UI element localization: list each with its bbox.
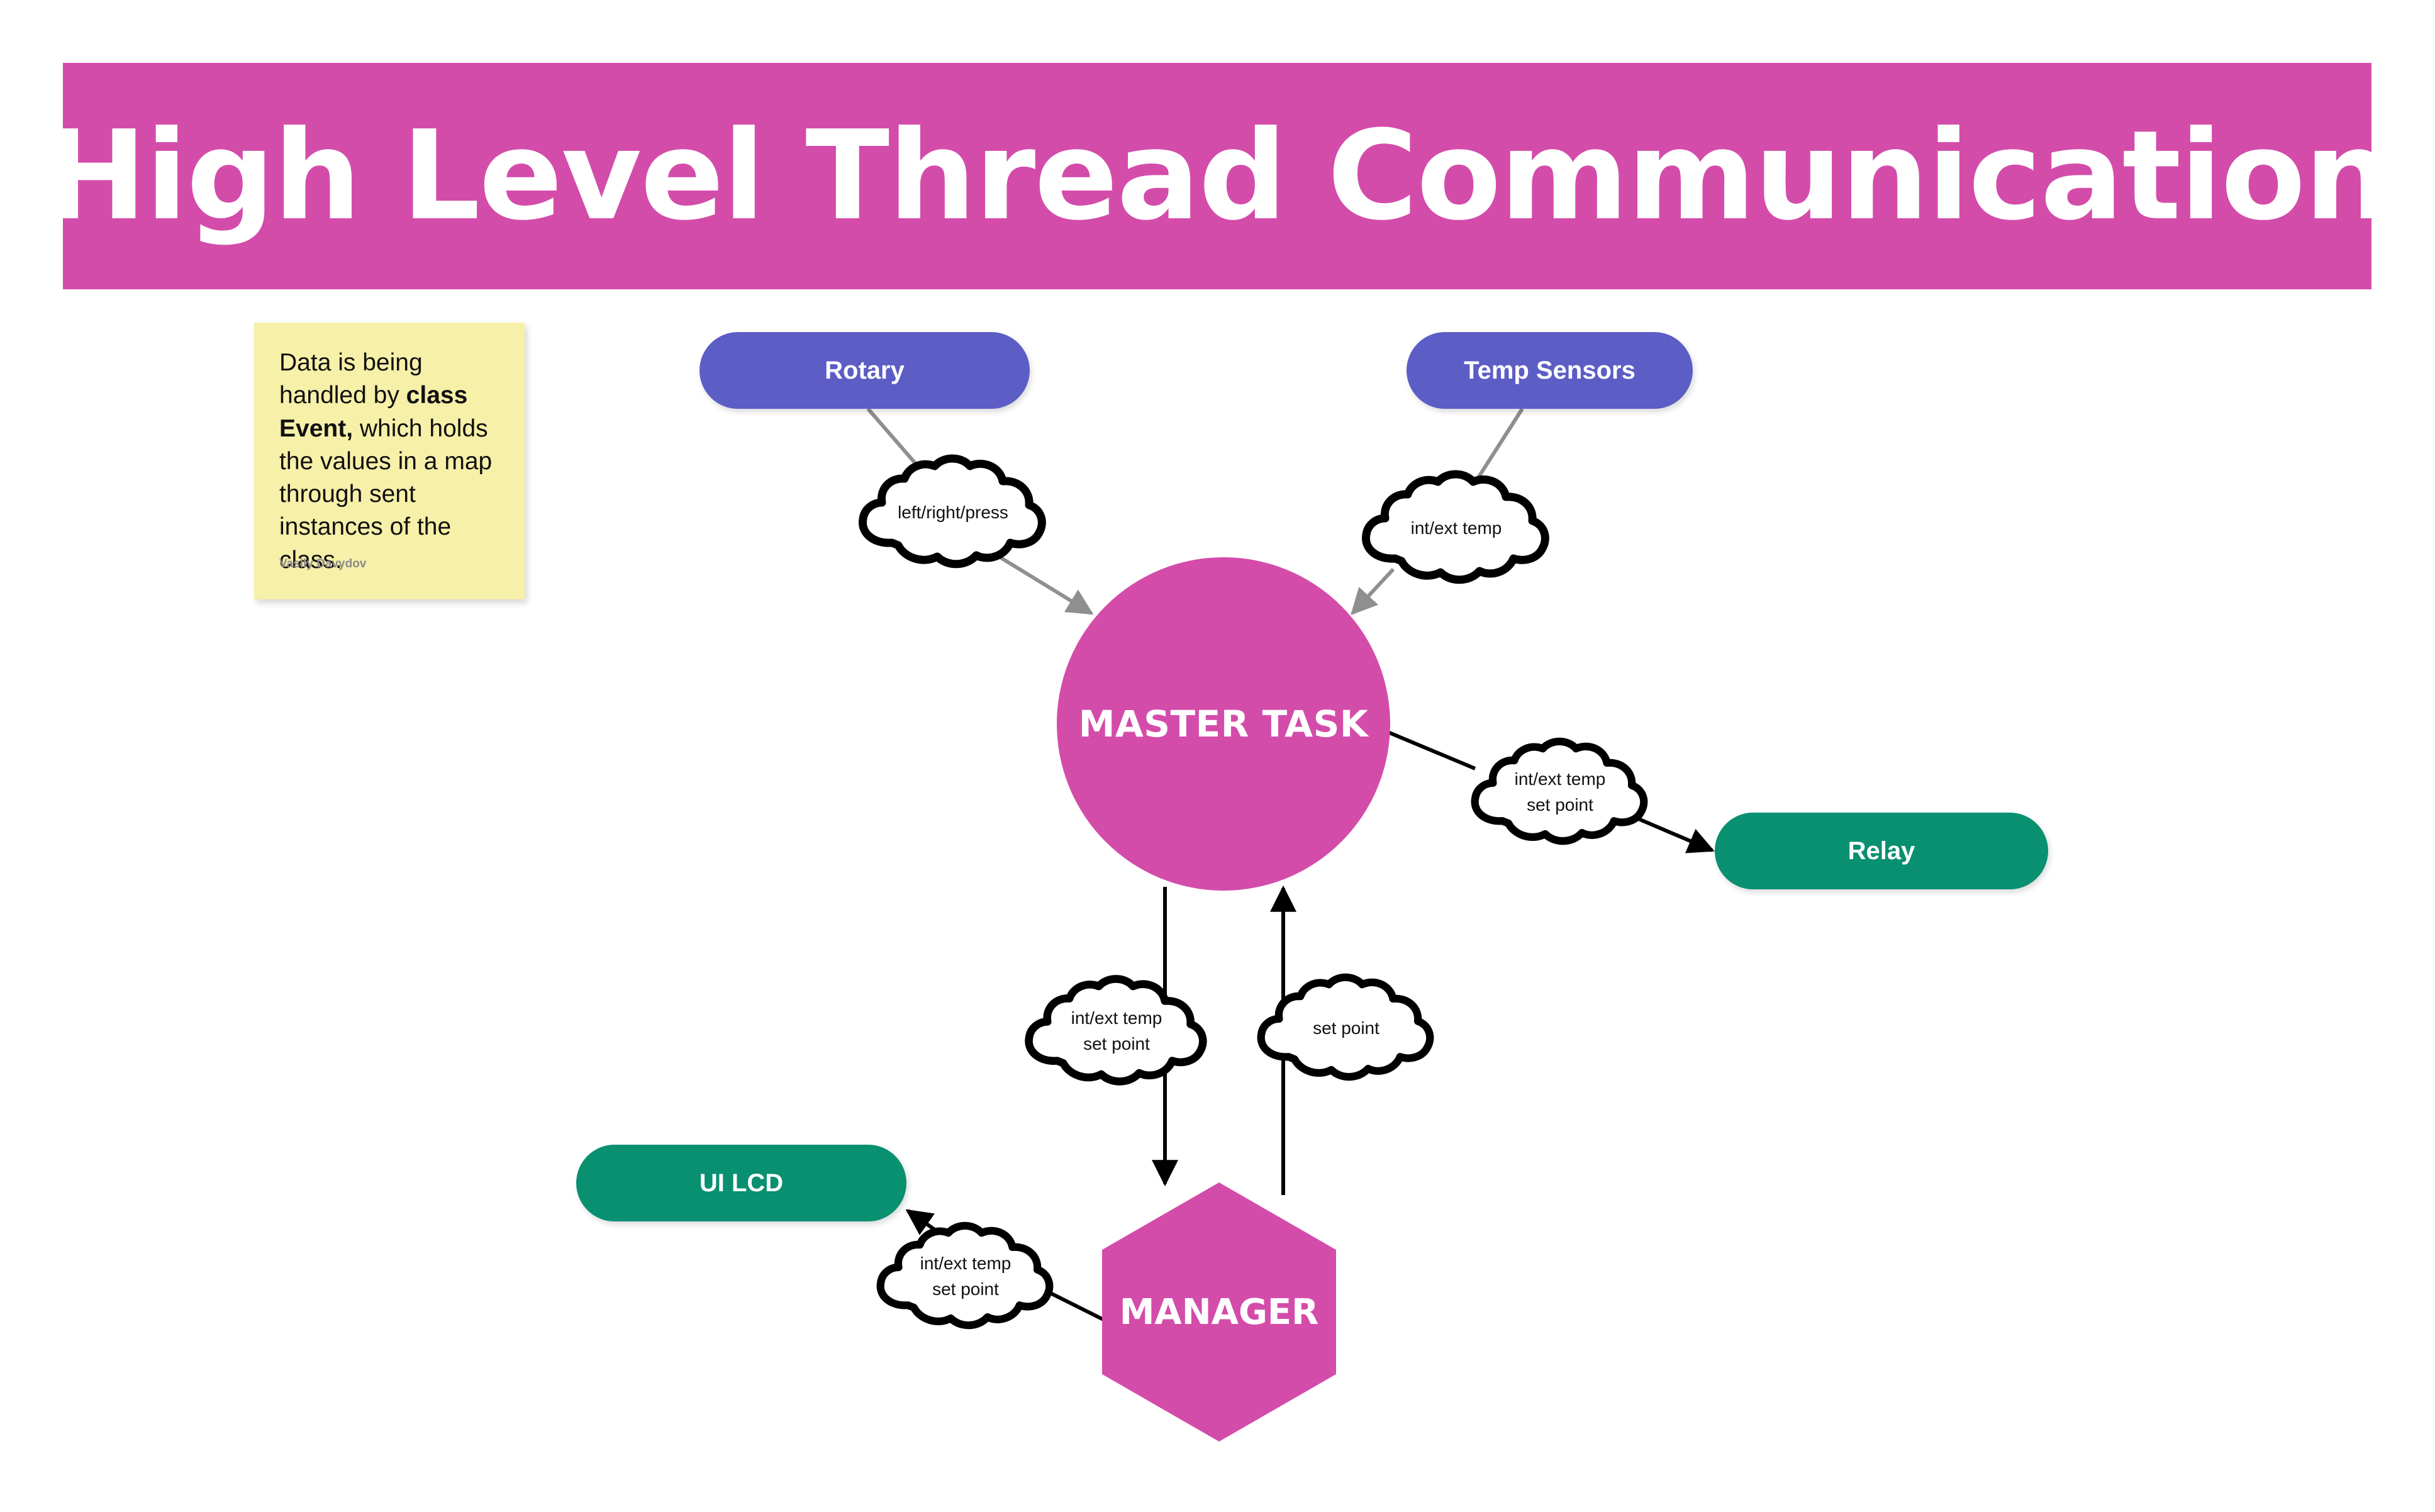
node-master-task[interactable]: MASTER TASK [1057,557,1390,891]
sticky-note-author: Vasily Davydov [279,557,366,571]
cloud-master-to-relay: int/ext temp set point [1456,730,1664,855]
cloud-master-to-manager: int/ext temp set point [1010,969,1223,1094]
cloud-down-label: int/ext temp set point [1071,1006,1162,1057]
node-ui-lcd[interactable]: UI LCD [576,1145,906,1221]
cloud-rotary-to-master: left/right/press [843,450,1063,575]
node-ui-lcd-label: UI LCD [699,1169,783,1198]
node-relay-label: Relay [1848,837,1915,865]
cloud-relay-label: int/ext temp set point [1515,767,1606,818]
cloud-up-label: set point [1313,1016,1379,1042]
node-rotary-label: Rotary [825,357,905,385]
node-manager-label: MANAGER [1120,1292,1319,1333]
node-temp-sensors-label: Temp Sensors [1464,357,1635,385]
cloud-manager-to-master: set point [1242,969,1450,1088]
node-temp-sensors[interactable]: Temp Sensors [1407,332,1693,409]
sticky-note-text: Data is being handled by class Event, wh… [279,347,499,577]
cloud-lcd-label: int/ext temp set point [920,1251,1011,1302]
cloud-temp-to-master: int/ext temp [1346,465,1566,591]
node-relay[interactable]: Relay [1715,813,2048,889]
page-title: High Level Thread Communication [43,114,2391,238]
cloud-rotary-label: left/right/press [898,500,1008,526]
node-rotary[interactable]: Rotary [699,332,1030,409]
node-manager[interactable]: MANAGER [1102,1182,1336,1442]
cloud-temp-label: int/ext temp [1411,516,1502,542]
title-banner: High Level Thread Communication [63,63,2371,289]
sticky-note: Data is being handled by class Event, wh… [254,323,525,599]
sticky-note-text-part1: Data is being handled by [279,349,423,409]
node-master-task-label: MASTER TASK [1079,703,1369,745]
cloud-manager-to-lcd: int/ext temp set point [862,1214,1069,1340]
